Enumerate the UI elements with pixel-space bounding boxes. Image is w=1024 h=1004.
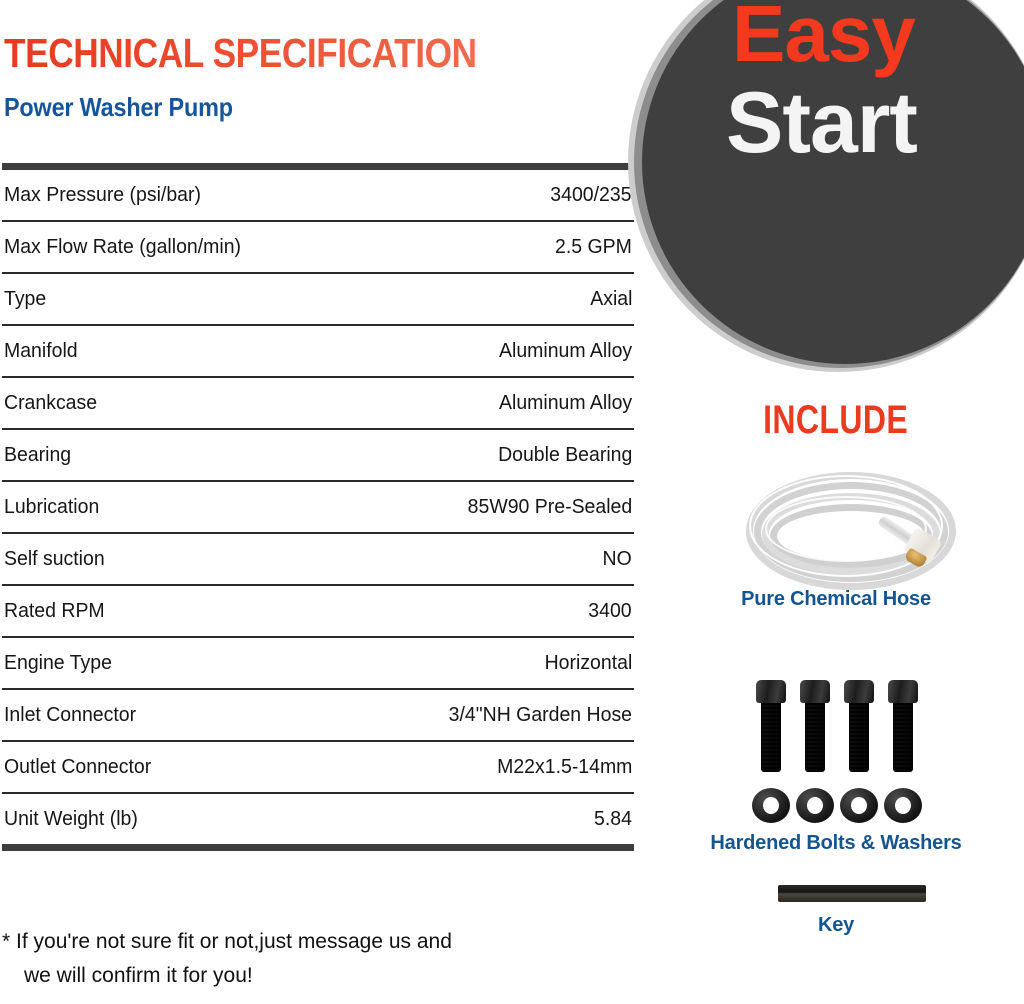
spec-label: Unit Weight (lb) <box>4 807 138 831</box>
bolt-shaft <box>805 703 825 772</box>
spec-label: Type <box>4 287 46 311</box>
fine-print-note: * If you're not sure fit or not,just mes… <box>2 925 632 993</box>
spec-label: Self suction <box>4 547 105 571</box>
bolt-head <box>844 680 874 703</box>
key-bar <box>778 885 926 902</box>
specification-panel: TECHNICAL SPECIFICATION Power Washer Pum… <box>0 0 648 1004</box>
spec-label: Crankcase <box>4 391 97 415</box>
table-row: Lubrication 85W90 Pre-Sealed <box>2 482 634 532</box>
table-row: Engine Type Horizontal <box>2 638 634 688</box>
bolt <box>756 680 786 772</box>
spec-label: Max Pressure (psi/bar) <box>4 183 201 207</box>
bolt <box>800 680 830 772</box>
include-item-hose: Pure Chemical Hose <box>648 470 1024 611</box>
table-row: Type Axial <box>2 274 634 324</box>
fine-print-line-1: * If you're not sure fit or not,just mes… <box>2 930 452 953</box>
bolts-and-washers-icon <box>648 672 1024 832</box>
page-title: TECHNICAL SPECIFICATION <box>4 33 477 74</box>
washer <box>884 788 922 823</box>
table-row: Manifold Aluminum Alloy <box>2 326 634 376</box>
specification-table: Max Pressure (psi/bar) 3400/235 Max Flow… <box>2 163 634 851</box>
table-row: Self suction NO <box>2 534 634 584</box>
spec-value: Horizontal <box>544 651 632 675</box>
spec-label: Rated RPM <box>4 599 105 623</box>
include-item-bolts: Hardened Bolts & Washers <box>648 672 1024 855</box>
bolt-shaft <box>761 703 781 772</box>
spec-value: 2.5 GPM <box>555 235 632 259</box>
bolt-shaft <box>849 703 869 772</box>
item-caption: Key <box>648 914 1024 937</box>
key-bar-icon <box>648 880 1024 914</box>
table-row: Max Flow Rate (gallon/min) 2.5 GPM <box>2 222 634 272</box>
bolt-head <box>800 680 830 703</box>
bolt-head <box>888 680 918 703</box>
table-row: Bearing Double Bearing <box>2 430 634 480</box>
include-heading-text: INCLUDE <box>763 400 908 440</box>
table-row: Inlet Connector 3/4"NH Garden Hose <box>2 690 634 740</box>
page-subtitle: Power Washer Pump <box>4 94 233 120</box>
spec-value: 3400/235 <box>551 183 632 207</box>
table-row: Unit Weight (lb) 5.84 <box>2 794 634 844</box>
spec-label: Inlet Connector <box>4 703 136 727</box>
features-panel: Easy Start INCLUDE Pure Chemical Hose <box>648 0 1024 1004</box>
easy-start-badge: Easy Start <box>628 0 1024 372</box>
spec-label: Manifold <box>4 339 78 363</box>
table-top-rule <box>2 163 634 170</box>
table-row: Outlet Connector M22x1.5-14mm <box>2 742 634 792</box>
spec-value: Aluminum Alloy <box>499 339 632 363</box>
spec-value: NO <box>603 547 632 571</box>
spec-value: 3400 <box>589 599 632 623</box>
table-row: Max Pressure (psi/bar) 3400/235 <box>2 170 634 220</box>
spec-label: Lubrication <box>4 495 99 519</box>
spec-value: 5.84 <box>594 807 632 831</box>
spec-label: Max Flow Rate (gallon/min) <box>4 235 241 259</box>
item-caption: Hardened Bolts & Washers <box>648 832 1024 855</box>
spec-value: Aluminum Alloy <box>499 391 632 415</box>
bolt <box>844 680 874 772</box>
badge-line-2: Start <box>726 80 917 166</box>
spec-value: 85W90 Pre-Sealed <box>467 495 632 519</box>
spec-label: Outlet Connector <box>4 755 151 779</box>
spec-label: Engine Type <box>4 651 112 675</box>
bolt-shaft <box>893 703 913 772</box>
spec-value: Axial <box>590 287 632 311</box>
bolt <box>888 680 918 772</box>
table-row: Rated RPM 3400 <box>2 586 634 636</box>
chemical-hose-coil-icon <box>648 470 1024 588</box>
spec-value: Double Bearing <box>498 443 632 467</box>
spec-value: M22x1.5-14mm <box>497 755 632 779</box>
spec-label: Bearing <box>4 443 71 467</box>
table-bottom-rule <box>2 844 634 851</box>
badge-line-1: Easy <box>732 0 915 74</box>
spec-value: 3/4"NH Garden Hose <box>449 703 632 727</box>
fine-print-line-2: we will confirm it for you! <box>2 959 632 993</box>
include-item-key: Key <box>648 880 1024 937</box>
washer <box>752 788 790 823</box>
bolt-head <box>756 680 786 703</box>
item-caption: Pure Chemical Hose <box>648 588 1024 611</box>
washer <box>840 788 878 823</box>
washer <box>796 788 834 823</box>
table-row: Crankcase Aluminum Alloy <box>2 378 634 428</box>
include-heading: INCLUDE <box>648 400 1024 440</box>
